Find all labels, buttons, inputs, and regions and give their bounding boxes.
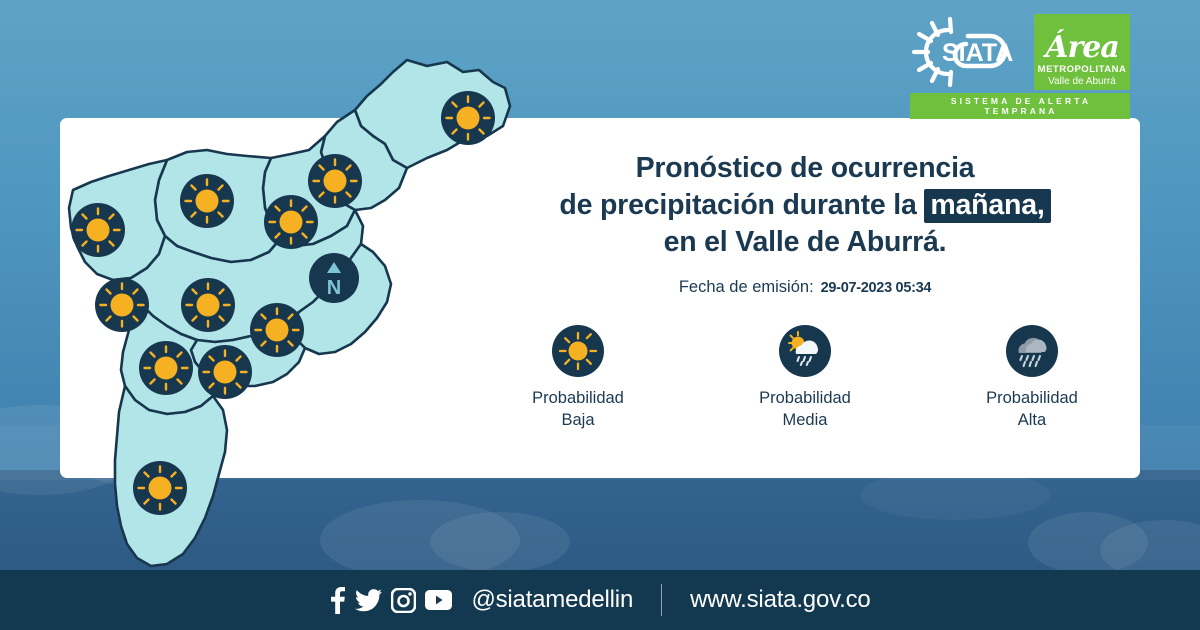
brand-logos: SIATA Área METROPOLITANA Valle de Aburrá… xyxy=(906,14,1130,119)
map-marker-la-estrella xyxy=(198,345,252,399)
cloud-rain-icon xyxy=(1006,325,1058,377)
probability-legend: Probabilidad Baja xyxy=(470,325,1140,431)
title-highlight: mañana, xyxy=(924,189,1050,223)
forecast-content: Pronóstico de ocurrencia de precipitació… xyxy=(470,150,1140,431)
twitter-icon[interactable] xyxy=(355,589,382,612)
map-marker-copacabana xyxy=(264,195,318,249)
youtube-icon[interactable] xyxy=(425,590,452,610)
legend-alta-line1: Probabilidad xyxy=(986,388,1078,409)
area-logo-line2: Valle de Aburrá xyxy=(1048,76,1116,88)
map-marker-girardota xyxy=(308,154,362,208)
map-marker-sabaneta xyxy=(139,341,193,395)
instagram-icon[interactable] xyxy=(391,588,416,613)
legend-item-baja: Probabilidad Baja xyxy=(511,325,646,431)
title-line-2-text: de precipitación durante la xyxy=(559,189,924,221)
map-marker-barbosa xyxy=(441,91,495,145)
legend-item-media: Probabilidad Media xyxy=(738,325,873,431)
issue-date: Fecha de emisión: 29-07-2023 05:34 xyxy=(470,278,1140,297)
sun-icon xyxy=(552,325,604,377)
footer-divider xyxy=(661,584,662,616)
legend-baja-line2: Baja xyxy=(532,410,624,431)
map-marker-san-pedro xyxy=(71,203,125,257)
legend-alta-line2: Alta xyxy=(986,410,1078,431)
area-logo-script: Área xyxy=(1045,33,1119,63)
siata-logo: SIATA xyxy=(906,16,1026,88)
map-marker-envigado xyxy=(181,278,235,332)
legend-media-line2: Media xyxy=(759,410,851,431)
map-marker-medellin xyxy=(95,278,149,332)
map-marker-caldas xyxy=(133,461,187,515)
social-icons xyxy=(329,587,452,614)
legend-baja-line1: Probabilidad xyxy=(532,388,624,409)
siata-wordmark: SIATA xyxy=(942,39,1013,67)
issue-date-label: Fecha de emisión: xyxy=(679,278,814,297)
siata-tagline: SISTEMA DE ALERTA TEMPRANA xyxy=(910,93,1130,119)
compass-label: N xyxy=(327,277,341,299)
social-handle[interactable]: @siatamedellin xyxy=(471,586,633,614)
legend-label-alta: Probabilidad Alta xyxy=(986,388,1078,431)
legend-label-baja: Probabilidad Baja xyxy=(532,388,624,431)
footer-bar: @siatamedellin www.siata.gov.co xyxy=(0,570,1200,630)
area-logo-line1: METROPOLITANA xyxy=(1038,65,1127,76)
compass-rose: N xyxy=(309,253,359,303)
legend-item-alta: Probabilidad Alta xyxy=(965,325,1100,431)
area-metropolitana-logo: Área METROPOLITANA Valle de Aburrá xyxy=(1034,14,1130,90)
valle-de-aburra-map: N xyxy=(55,40,525,580)
legend-label-media: Probabilidad Media xyxy=(759,388,851,431)
map-marker-itagui xyxy=(250,303,304,357)
title-line-3: en el Valle de Aburrá. xyxy=(470,224,1140,261)
website-url[interactable]: www.siata.gov.co xyxy=(690,586,870,614)
issue-date-value: 29-07-2023 05:34 xyxy=(821,280,932,296)
map-marker-bello xyxy=(180,174,234,228)
title-line-1: Pronóstico de ocurrencia xyxy=(470,150,1140,187)
sun-rain-icon xyxy=(779,325,831,377)
facebook-icon[interactable] xyxy=(329,587,346,614)
title-line-2: de precipitación durante la mañana, xyxy=(470,187,1140,224)
legend-media-line1: Probabilidad xyxy=(759,388,851,409)
page-title: Pronóstico de ocurrencia de precipitació… xyxy=(470,150,1140,261)
